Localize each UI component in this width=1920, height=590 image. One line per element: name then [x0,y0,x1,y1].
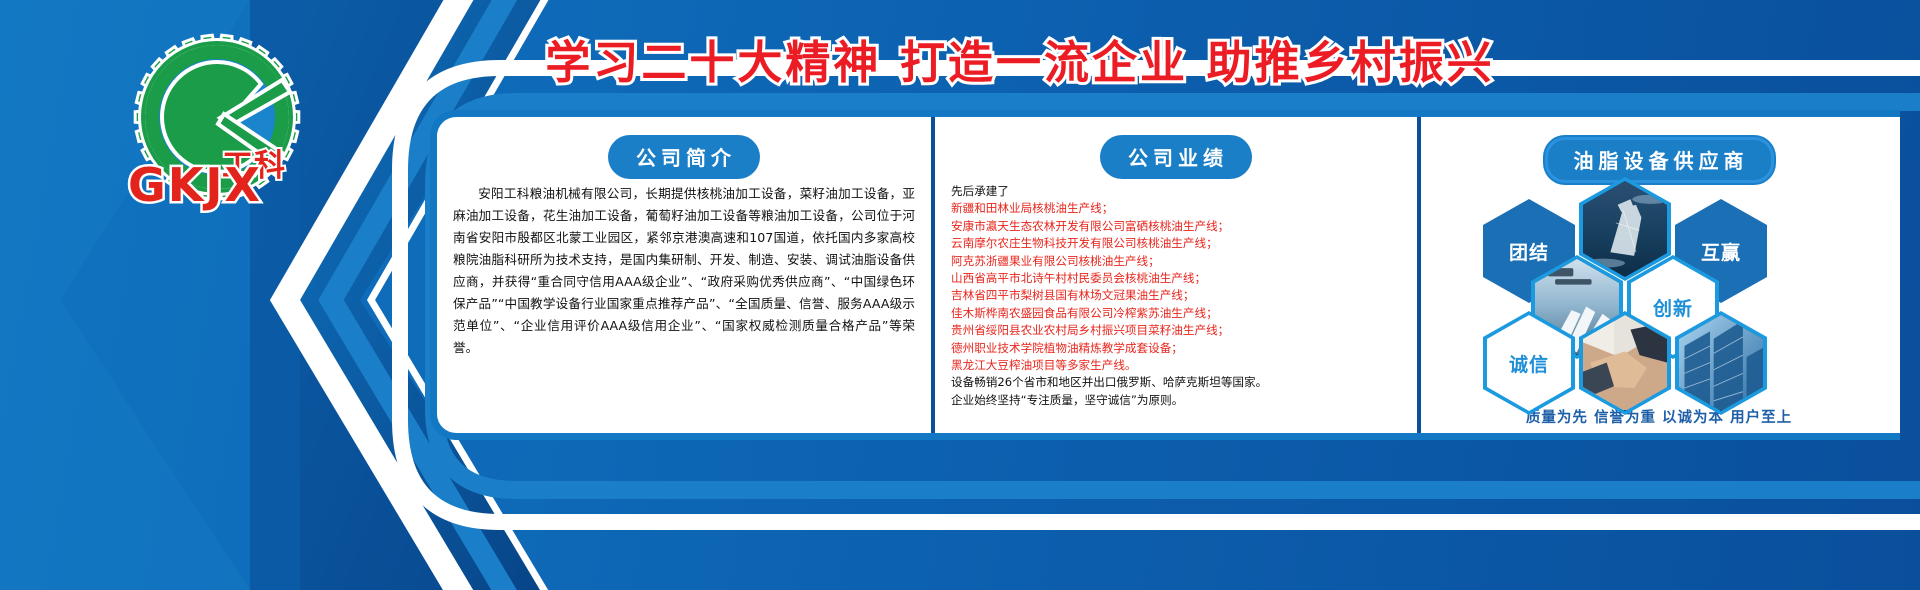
performance-footer-line: 企业始终坚持“专注质量，坚守诚信”为原则。 [951,392,1401,409]
page-headline: 学习二十大精神 打造一流企业 助推乡村振兴 [430,26,1610,91]
list-item: 吉林省四平市梨树县国有林场文冠果油生产线； [951,287,1401,304]
list-item: 德州职业技术学院植物油精炼教学成套设备； [951,340,1401,357]
panel-company-profile: 公司简介 安阳工科粮油机械有限公司，长期提供核桃油加工设备，菜籽油加工设备，亚麻… [437,117,931,433]
hex-label: 创新 [1653,294,1693,321]
list-item: 佳木斯桦南农盛园食品有限公司冷榨紫苏油生产线； [951,305,1401,322]
list-item: 贵州省绥阳县农业农村局乡村振兴项目菜籽油生产线； [951,322,1401,339]
performance-intro: 先后承建了 [951,183,1401,200]
list-item: 黑龙江大豆榨油项目等多家生产线。 [951,357,1401,374]
panel-title-oil-equipment-supplier: 油脂设备供应商 [1545,137,1774,183]
list-item: 山西省高平市北诗午村村民委员会核桃油生产线； [951,270,1401,287]
poster-canvas: 工科 GKJX 学习二十大精神 打造一流企业 助推乡村振兴 公司简介 安阳工科粮… [0,0,1920,590]
content-board: 公司简介 安阳工科粮油机械有限公司，长期提供核桃油加工设备，菜籽油加工设备，亚麻… [430,110,1900,440]
list-item: 安康市瀛天生态农林开发有限公司富硒核桃油生产线； [951,218,1401,235]
panel-company-performance: 公司业绩 先后承建了 新疆和田林业局核桃油生产线； 安康市瀛天生态农林开发有限公… [931,117,1417,433]
logo-name-en: GKJX [128,158,262,212]
performance-footer-line: 设备畅销26个省市和地区并出口俄罗斯、哈萨克斯坦等国家。 [951,374,1401,391]
list-item: 阿克苏浙疆果业有限公司核桃油生产线； [951,253,1401,270]
panel-oil-equipment-supplier: 油脂设备供应商 团结 [1417,117,1897,433]
list-item: 新疆和田林业局核桃油生产线； [951,200,1401,217]
company-profile-paragraph: 安阳工科粮油机械有限公司，长期提供核桃油加工设备，菜籽油加工设备，亚麻油加工设备… [453,183,915,359]
hex-cluster: 团结 [1437,189,1881,404]
company-profile-text: 安阳工科粮油机械有限公司，长期提供核桃油加工设备，菜籽油加工设备，亚麻油加工设备… [453,183,915,359]
list-item: 云南摩尔农庄生物科技开发有限公司核桃油生产线； [951,235,1401,252]
hex-label: 诚信 [1509,350,1549,377]
panel-slogan: 质量为先 信誉为重 以诚为本 用户至上 [1437,406,1881,427]
panel-title-company-profile: 公司简介 [610,137,758,177]
hex-label: 团结 [1509,238,1549,265]
performance-list: 先后承建了 新疆和田林业局核桃油生产线； 安康市瀛天生态农林开发有限公司富硒核桃… [951,183,1401,409]
panel-title-company-performance: 公司业绩 [1102,137,1250,177]
hex-label: 互赢 [1701,238,1741,265]
